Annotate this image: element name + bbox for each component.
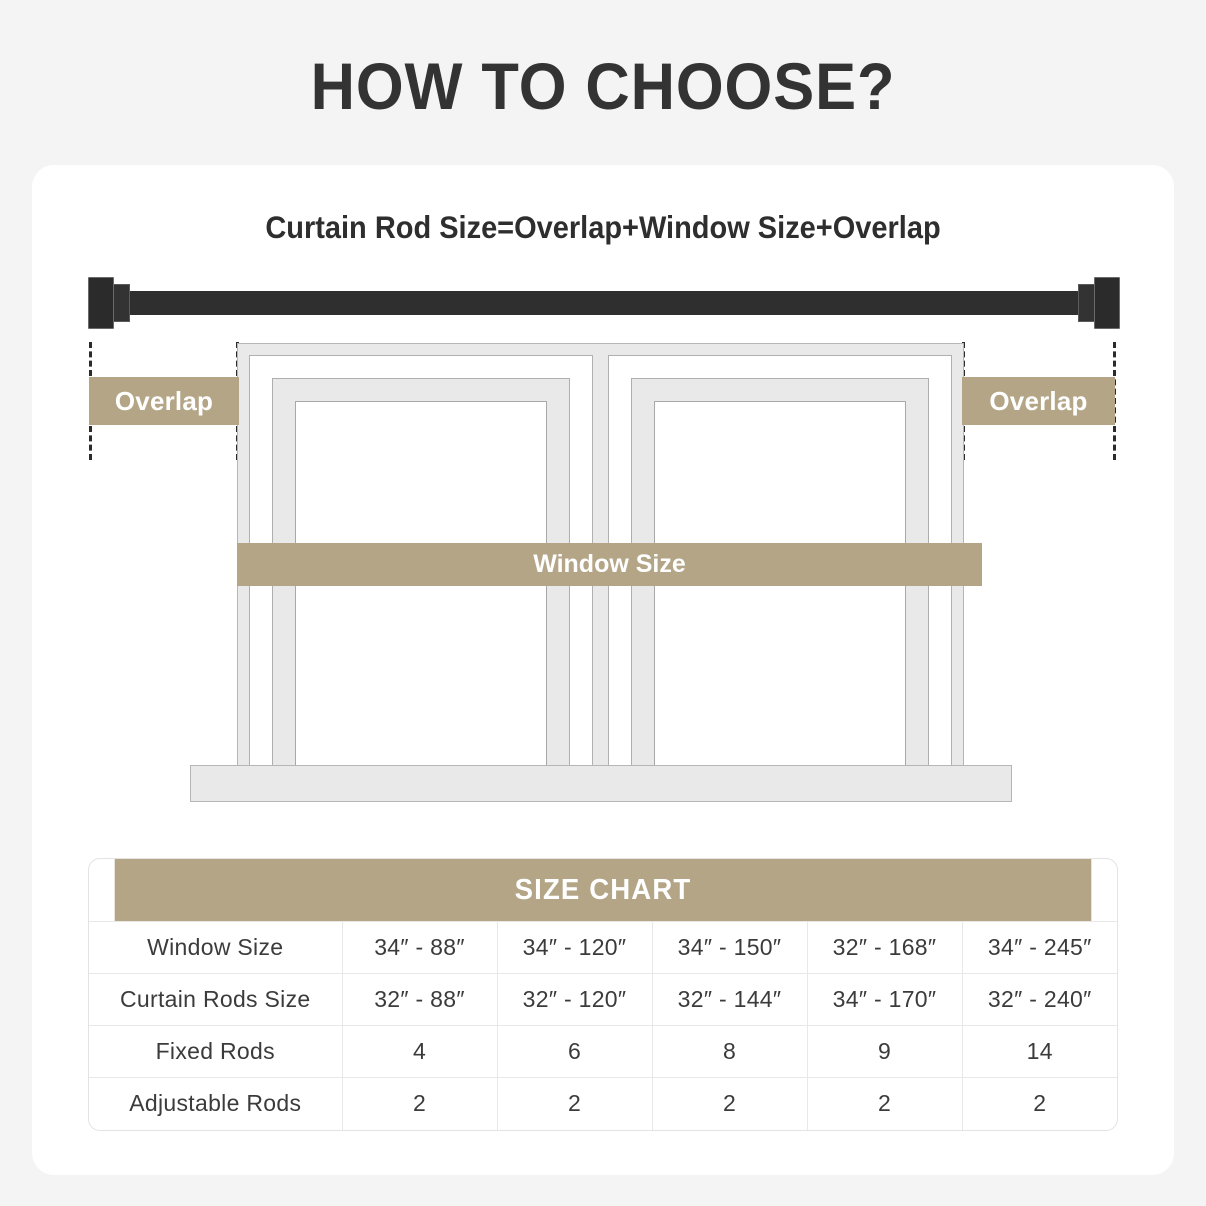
window-pane-right xyxy=(654,401,906,776)
curtain-rod-graphic xyxy=(88,277,1120,327)
table-cell: 2 xyxy=(962,1078,1117,1130)
table-cell: 4 xyxy=(342,1026,497,1078)
table-row: Curtain Rods Size32″ - 88″32″ - 120″32″ … xyxy=(89,974,1117,1026)
size-chart: SIZE CHART Window Size34″ - 88″34″ - 120… xyxy=(88,858,1118,1131)
table-row-label: Curtain Rods Size xyxy=(89,974,342,1026)
table-cell: 32″ - 88″ xyxy=(342,974,497,1026)
table-cell: 14 xyxy=(962,1026,1117,1078)
table-cell: 2 xyxy=(807,1078,962,1130)
size-chart-body: Window Size34″ - 88″34″ - 120″34″ - 150″… xyxy=(89,922,1117,1130)
window-size-label: Window Size xyxy=(237,543,982,586)
curtain-rod-finial-left xyxy=(88,277,114,329)
window-pane-left xyxy=(295,401,547,776)
curtain-rod-bar xyxy=(118,291,1090,315)
window-measurement-diagram: Overlap Overlap Window Size xyxy=(32,165,1174,825)
table-row: Fixed Rods468914 xyxy=(89,1026,1117,1078)
table-cell: 8 xyxy=(652,1026,807,1078)
table-row-label: Fixed Rods xyxy=(89,1026,342,1078)
table-cell: 2 xyxy=(652,1078,807,1130)
window-sill xyxy=(190,765,1012,802)
table-cell: 2 xyxy=(342,1078,497,1130)
table-cell: 32″ - 120″ xyxy=(497,974,652,1026)
table-cell: 34″ - 150″ xyxy=(652,922,807,974)
table-cell: 34″ - 245″ xyxy=(962,922,1117,974)
table-cell: 32″ - 240″ xyxy=(962,974,1117,1026)
table-cell: 32″ - 168″ xyxy=(807,922,962,974)
how-to-choose-infographic: HOW TO CHOOSE? Curtain Rod Size=Overlap+… xyxy=(0,0,1206,1206)
size-chart-title: SIZE CHART xyxy=(115,859,1092,921)
table-row-label: Window Size xyxy=(89,922,342,974)
curtain-rod-finial-right xyxy=(1094,277,1120,329)
content-card: Curtain Rod Size=Overlap+Window Size+Ove… xyxy=(32,165,1174,1175)
overlap-label-right: Overlap xyxy=(962,377,1115,425)
table-cell: 34″ - 170″ xyxy=(807,974,962,1026)
table-cell: 34″ - 120″ xyxy=(497,922,652,974)
table-cell: 6 xyxy=(497,1026,652,1078)
table-cell: 34″ - 88″ xyxy=(342,922,497,974)
overlap-label-left: Overlap xyxy=(89,377,239,425)
table-cell: 32″ - 144″ xyxy=(652,974,807,1026)
table-cell: 9 xyxy=(807,1026,962,1078)
page-title: HOW TO CHOOSE? xyxy=(42,48,1164,124)
size-chart-table: Window Size34″ - 88″34″ - 120″34″ - 150″… xyxy=(89,921,1117,1130)
table-row: Adjustable Rods22222 xyxy=(89,1078,1117,1130)
table-cell: 2 xyxy=(497,1078,652,1130)
table-row-label: Adjustable Rods xyxy=(89,1078,342,1130)
table-row: Window Size34″ - 88″34″ - 120″34″ - 150″… xyxy=(89,922,1117,974)
